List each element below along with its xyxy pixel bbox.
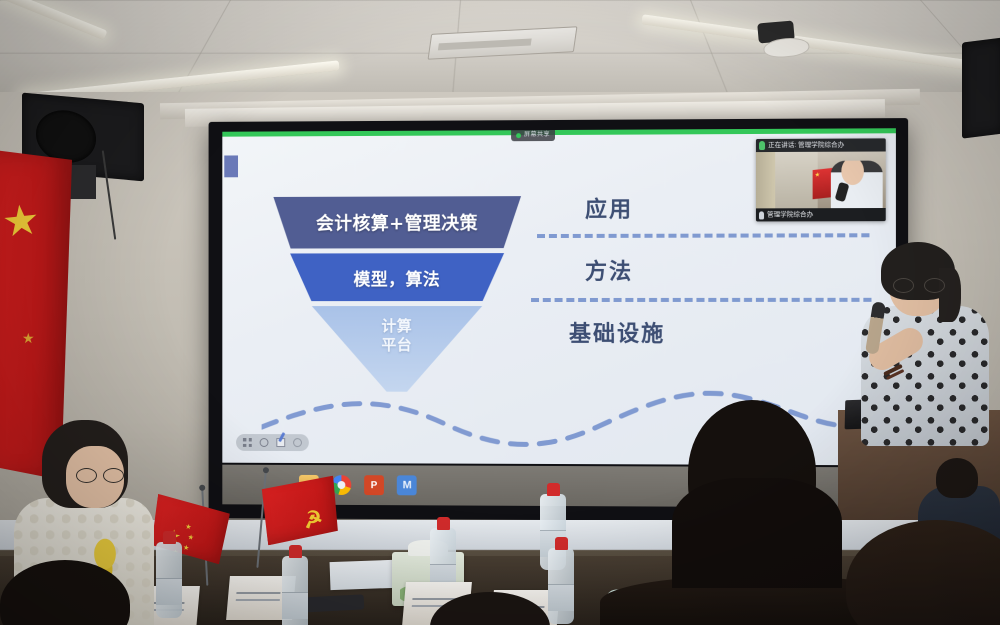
flag-star-icon: ★	[185, 523, 192, 532]
layer-label-infrastructure: 基础设施	[569, 316, 665, 348]
video-remote-participant	[831, 161, 883, 209]
glasses-icon	[76, 468, 124, 481]
meeting-app-icon[interactable]: M	[397, 475, 417, 495]
microphone-icon	[759, 211, 764, 219]
hammer-sickle-icon: ☭	[300, 505, 325, 535]
video-tile-feed	[756, 151, 886, 208]
layer-label-method: 方法	[585, 254, 633, 286]
water-bottle	[282, 556, 308, 625]
flag-star-icon: ★	[0, 198, 42, 244]
funnel-tier-3-line1: 计算	[381, 317, 412, 336]
grid-view-icon[interactable]	[243, 438, 252, 447]
participant-name-text: 管理学院综合办	[767, 208, 813, 221]
share-status-text: 屏幕共享	[524, 130, 550, 141]
layer-label-application: 应用	[585, 192, 633, 224]
circle-icon[interactable]	[260, 438, 269, 447]
microphone-icon	[759, 141, 765, 150]
video-tile-name-label: 管理学院综合办	[756, 208, 886, 221]
more-icon[interactable]	[293, 438, 302, 447]
flag-star-icon: ★	[182, 543, 189, 552]
divider-dashed-line	[531, 298, 871, 302]
video-conference-tile[interactable]: 正在讲话: 管理学院综合办 管理学院综合办	[756, 138, 886, 221]
glasses-icon	[893, 278, 945, 291]
funnel-tier-3: 计算 平台	[312, 306, 482, 392]
presentation-toolbar[interactable]	[236, 434, 309, 451]
audience-head-foreground	[688, 400, 816, 545]
video-tile-speaking-header: 正在讲话: 管理学院综合办	[756, 138, 886, 152]
flag-star-icon: ★	[187, 533, 194, 542]
funnel-diagram: 会计核算+管理决策 模型，算法 计算 平台	[273, 196, 521, 396]
screen-share-status-pill: 屏幕共享	[511, 130, 555, 141]
share-status-dot	[516, 133, 521, 138]
wall-mount-bracket	[70, 165, 96, 199]
wall-speaker-right	[962, 37, 1000, 138]
chrome-browser-icon[interactable]	[332, 475, 352, 495]
meeting-room-scene: ★ ★ 屏幕共享 会计核算+管理决策 模型，算法 计算 平台	[0, 0, 1000, 625]
presenter-person	[855, 250, 1000, 480]
funnel-tier-3-line2: 平台	[381, 336, 412, 355]
video-background-curtain	[756, 152, 775, 208]
ceiling-projector-icon	[757, 20, 795, 43]
slide-decor-rect	[224, 155, 238, 177]
powerpoint-icon[interactable]: P	[364, 475, 384, 495]
divider-dashed-line	[537, 233, 869, 238]
funnel-tier-2: 模型，算法	[290, 253, 504, 301]
presenter-hair-side	[939, 268, 961, 322]
pen-icon[interactable]	[276, 438, 285, 447]
speaking-status-text: 正在讲话: 管理学院综合办	[768, 139, 844, 152]
water-bottle	[548, 548, 574, 624]
screen-share-indicator-bar	[222, 128, 896, 136]
flag-star-icon: ★	[22, 330, 35, 347]
display-screen[interactable]: 屏幕共享 会计核算+管理决策 模型，算法 计算 平台 应用 方法 基础设施	[222, 128, 896, 465]
funnel-tier-1: 会计核算+管理决策	[273, 196, 521, 248]
